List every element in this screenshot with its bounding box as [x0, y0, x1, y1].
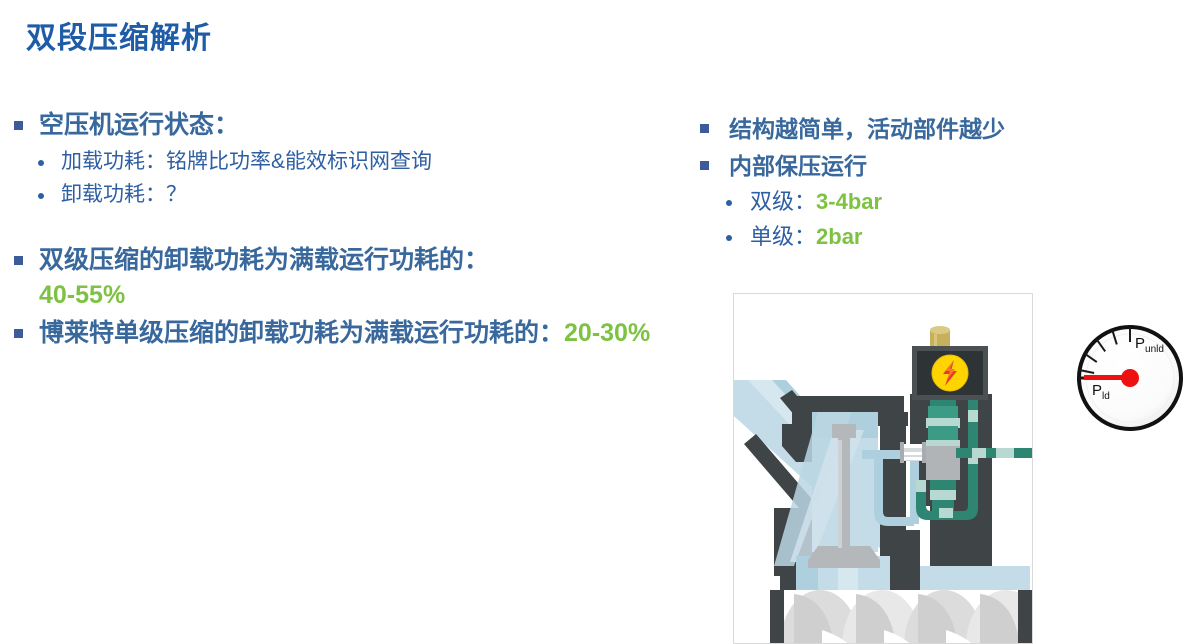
dot-bullet-icon — [38, 193, 44, 199]
list-item: 卸载功耗：？ — [38, 179, 704, 212]
sub-bullet-label: 双级： — [750, 189, 816, 214]
group-spacer — [14, 213, 704, 243]
bullet-label: 内部保压运行 — [729, 149, 867, 184]
sub-bullet-value: 3-4bar — [816, 189, 882, 214]
square-bullet-icon — [700, 124, 709, 133]
sub-bullet-value: 2bar — [816, 224, 862, 249]
list-item: 双级：3-4bar — [726, 185, 1120, 219]
page-title: 双段压缩解析 — [26, 13, 212, 57]
square-bullet-icon — [700, 161, 709, 170]
sub-bullet-label: 卸载功耗：？ — [61, 179, 187, 212]
bullet-item-operating-state: 空压机运行状态： — [14, 108, 704, 144]
sub-bullet-list-pressure: 双级：3-4bar 单级：2bar — [726, 185, 1120, 254]
bullet-item-internal-pressure-hold: 内部保压运行 — [700, 149, 1120, 184]
bullet-item-single-stage-unload: 博莱特单级压缩的卸载功耗为满载运行功耗的：20-30% — [14, 316, 704, 352]
pipe-fitting-connector — [900, 442, 926, 463]
sub-bullet-list-operating-state: 加载功耗：铭牌比功率&能效标识网查询 卸载功耗：？ — [38, 146, 704, 212]
list-item: 加载功耗：铭牌比功率&能效标识网查询 — [38, 146, 704, 179]
compressor-intake-valve-figure — [733, 293, 1033, 644]
bullet-item-simpler-structure: 结构越简单，活动部件越少 — [700, 112, 1120, 147]
bullet-item-two-stage-unload: 双级压缩的卸载功耗为满载运行功耗的：40-55% — [14, 243, 704, 314]
square-bullet-icon — [14, 256, 23, 265]
slide-root: 双段压缩解析 空压机运行状态： 加载功耗：铭牌比功率&能效标识网查询 卸载功耗：… — [0, 0, 1200, 644]
two-stage-value: 40-55% — [39, 281, 125, 309]
bullet-label-two-stage: 双级压缩的卸载功耗为满载运行功耗的：40-55% — [39, 243, 489, 314]
single-stage-value: 20-30% — [564, 319, 650, 347]
bullet-label-single-stage: 博莱特单级压缩的卸载功耗为满载运行功耗的：20-30% — [39, 316, 650, 352]
pressure-gauge: Punld Pld — [1070, 318, 1190, 438]
two-stage-text: 双级压缩的卸载功耗为满载运行功耗的： — [39, 246, 489, 274]
bullet-label: 结构越简单，活动部件越少 — [729, 112, 1005, 147]
sub-bullet-two-stage: 双级：3-4bar — [750, 185, 882, 219]
dot-bullet-icon — [38, 160, 44, 166]
sub-bullet-label: 加载功耗：铭牌比功率&能效标识网查询 — [61, 146, 432, 179]
dot-bullet-icon — [726, 235, 732, 241]
sub-bullet-single-stage: 单级：2bar — [750, 220, 863, 254]
single-stage-text: 博莱特单级压缩的卸载功耗为满载运行功耗的： — [39, 319, 564, 347]
screw-rotor-lobes — [770, 590, 1032, 643]
bullet-label: 空压机运行状态： — [39, 108, 239, 144]
left-content-column: 空压机运行状态： 加载功耗：铭牌比功率&能效标识网查询 卸载功耗：？ 双级压缩的… — [14, 108, 704, 353]
intake-valve-diagram-svg — [734, 294, 1032, 643]
sub-bullet-label: 单级： — [750, 224, 816, 249]
right-content-column: 结构越简单，活动部件越少 内部保压运行 双级：3-4bar 单级：2bar — [700, 112, 1120, 255]
list-item: 单级：2bar — [726, 220, 1120, 254]
dot-bullet-icon — [726, 200, 732, 206]
square-bullet-icon — [14, 329, 23, 338]
solenoid-piston-body — [926, 400, 960, 512]
square-bullet-icon — [14, 121, 23, 130]
pressure-gauge-svg: Punld Pld — [1070, 318, 1190, 438]
